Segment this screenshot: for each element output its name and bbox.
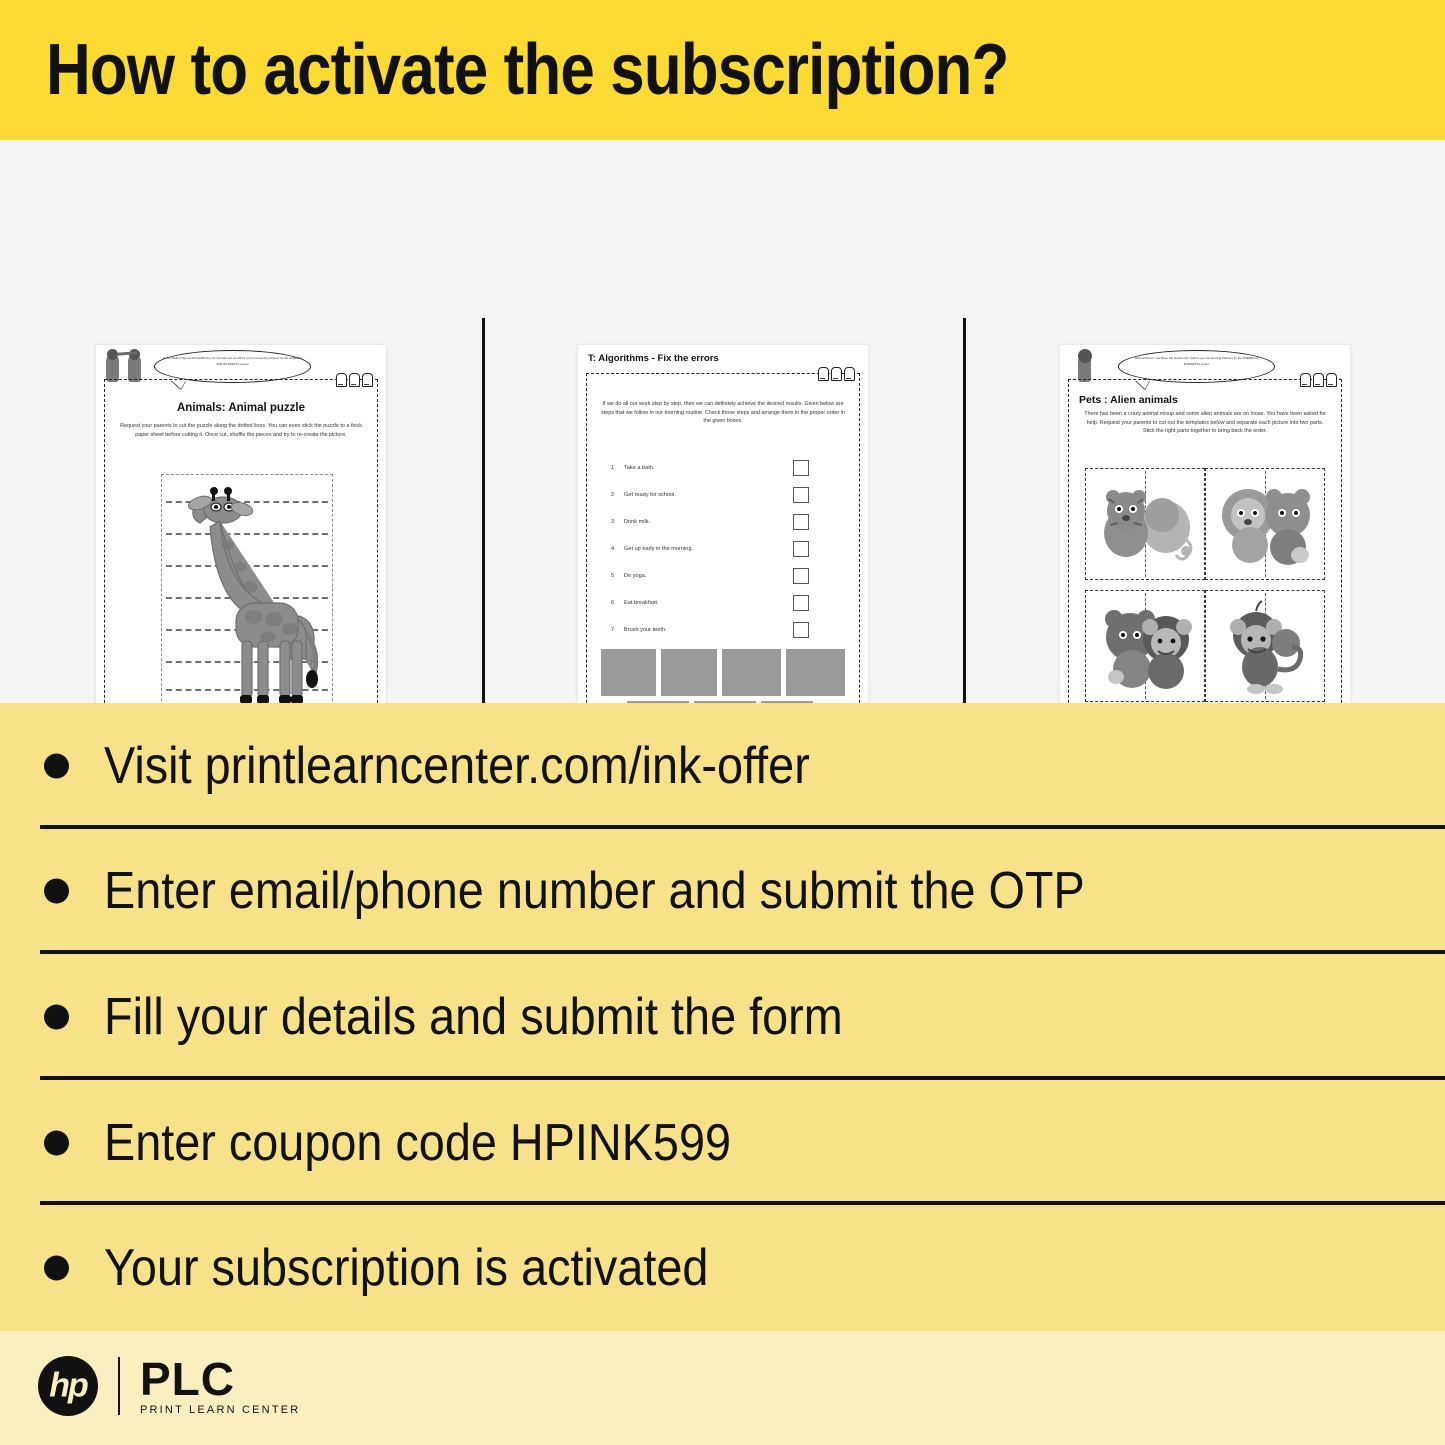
- crown-icon: [362, 373, 373, 387]
- worksheet-dashed-frame: Animals: Animal puzzle Request your pare…: [104, 379, 378, 758]
- promo-page: How to activate the subscription? Hello …: [0, 0, 1445, 1445]
- step-label: Take a bath.: [624, 465, 654, 471]
- animal-card-monkey-monkey: [1205, 590, 1325, 702]
- speech-bubble-text: Hello children! We are Dhoka/Rinchu, Our…: [163, 355, 302, 367]
- bear-monkey-illustration: [1096, 597, 1194, 695]
- worksheet-title: T: Algorithms - Fix the errors: [588, 353, 858, 364]
- step-checkbox[interactable]: [793, 541, 809, 557]
- activation-step-item: Enter email/phone number and submit the …: [0, 829, 1445, 955]
- step-checkbox[interactable]: [793, 460, 809, 476]
- plc-logo: PLC PRINT LEARN CENTER: [140, 1355, 300, 1416]
- activation-step-item: Enter coupon code HPINK599: [0, 1080, 1445, 1206]
- speech-bubble-text: Hello children!! I am Pops. My friends a…: [1127, 355, 1266, 367]
- crown-icon: [1326, 373, 1337, 387]
- step-label: Eat breakfast.: [624, 600, 659, 606]
- step-item: 6 Eat breakfast.: [611, 595, 843, 622]
- crown-icon: [1313, 373, 1324, 387]
- activation-step-label: Enter email/phone number and submit the …: [104, 860, 1085, 922]
- worksheet-title: Animals: Animal puzzle: [115, 402, 367, 414]
- step-checkbox[interactable]: [793, 568, 809, 584]
- step-label: Drink milk.: [624, 519, 650, 525]
- bullet-dot-icon: [44, 1130, 69, 1155]
- photo-stretching: [601, 649, 656, 696]
- step-item: 5 Do yoga.: [611, 568, 843, 595]
- crown-row: [818, 367, 855, 381]
- photo-row: [601, 649, 845, 696]
- activation-step-label: Enter coupon code HPINK599: [104, 1112, 731, 1174]
- giraffe-illustration: [176, 483, 318, 719]
- plc-tagline: PRINT LEARN CENTER: [140, 1404, 300, 1416]
- animal-card-lion-bear: [1205, 468, 1325, 580]
- step-item: 1 Take a bath.: [611, 460, 843, 487]
- animal-card-row: [1085, 590, 1325, 702]
- animal-card-tiger-lion: [1085, 468, 1205, 580]
- header-banner: How to activate the subscription?: [0, 0, 1445, 140]
- step-item: 3 Drink milk.: [611, 514, 843, 541]
- step-label: Get ready for school.: [624, 492, 676, 498]
- plc-logo-text: PLC: [140, 1355, 300, 1403]
- worksheet-title: Pets : Alien animals: [1079, 394, 1331, 406]
- photo-brushing-teeth: [661, 649, 716, 696]
- activation-steps-list: Visit printlearncenter.com/ink-offer Ent…: [0, 703, 1445, 1331]
- crown-icon: [336, 373, 347, 387]
- step-label: Get up early in the morning.: [624, 546, 693, 552]
- mascot-character-icon: [1068, 350, 1112, 382]
- worksheet-description: If we do all our work step by step, then…: [601, 400, 845, 426]
- step-number: 4: [611, 546, 614, 552]
- hp-logo-text: hp: [38, 1366, 98, 1405]
- bullet-dot-icon: [44, 1256, 69, 1281]
- footer-bar: hp PLC PRINT LEARN CENTER: [0, 1331, 1445, 1445]
- worksheet-description: Request your parents to cut the puzzle a…: [119, 422, 363, 439]
- mascot-characters-icon: [104, 350, 148, 382]
- page-title: How to activate the subscription?: [46, 26, 1008, 114]
- worksheet-thumbnail-strip: Hello children! We are Dhoka/Rinchu, Our…: [0, 140, 1445, 703]
- crown-icon: [818, 367, 829, 381]
- step-number: 1: [611, 465, 614, 471]
- step-item: 7 Brush your teeth.: [611, 622, 843, 649]
- step-checkbox[interactable]: [793, 622, 809, 638]
- step-number: 5: [611, 573, 614, 579]
- worksheet-dashed-frame: Pets : Alien animals There has been a cr…: [1068, 379, 1342, 758]
- animal-card-row: [1085, 468, 1325, 580]
- tiger-lion-illustration: [1096, 475, 1194, 573]
- activation-step-label: Visit printlearncenter.com/ink-offer: [104, 735, 810, 797]
- step-number: 6: [611, 600, 614, 606]
- animal-card-bear-monkey: [1085, 590, 1205, 702]
- animal-card-grid: [1085, 468, 1325, 712]
- worksheet-dashed-frame: If we do all our work step by step, then…: [586, 373, 860, 758]
- crown-icon: [1300, 373, 1311, 387]
- step-label: Brush your teeth.: [624, 627, 667, 633]
- step-item: 2 Get ready for school.: [611, 487, 843, 514]
- step-label: Do yoga.: [624, 573, 646, 579]
- activation-step-item: Fill your details and submit the form: [0, 954, 1445, 1080]
- step-number: 2: [611, 492, 614, 498]
- step-checkbox[interactable]: [793, 487, 809, 503]
- crown-icon: [844, 367, 855, 381]
- step-number: 7: [611, 627, 614, 633]
- step-checkbox[interactable]: [793, 514, 809, 530]
- worksheet-description: There has been a crazy animal mixup and …: [1083, 410, 1327, 436]
- steps-list: 1 Take a bath. 2 Get ready for school. 3…: [611, 460, 843, 649]
- activation-step-label: Fill your details and submit the form: [104, 986, 843, 1048]
- activation-step-item: Your subscription is activated: [0, 1205, 1445, 1331]
- monkey-monkey-illustration: [1216, 597, 1314, 695]
- hp-logo-icon: hp: [38, 1356, 98, 1416]
- crown-icon: [349, 373, 360, 387]
- activation-step-item: Visit printlearncenter.com/ink-offer: [0, 703, 1445, 829]
- crown-icon: [831, 367, 842, 381]
- puzzle-cut-frame: [161, 474, 333, 726]
- photo-yoga: [786, 649, 845, 696]
- step-number: 3: [611, 519, 614, 525]
- brand-logos: hp PLC PRINT LEARN CENTER: [38, 1355, 300, 1416]
- step-item: 4 Get up early in the morning.: [611, 541, 843, 568]
- logo-separator: [118, 1357, 120, 1415]
- bullet-dot-icon: [44, 753, 69, 778]
- lion-bear-illustration: [1216, 475, 1314, 573]
- crown-row: [1300, 373, 1337, 387]
- crown-row: [336, 373, 373, 387]
- activation-step-label: Your subscription is activated: [104, 1237, 708, 1299]
- step-checkbox[interactable]: [793, 595, 809, 611]
- photo-drinking-milk: [722, 649, 781, 696]
- bullet-dot-icon: [44, 1004, 69, 1029]
- bullet-dot-icon: [44, 879, 69, 904]
